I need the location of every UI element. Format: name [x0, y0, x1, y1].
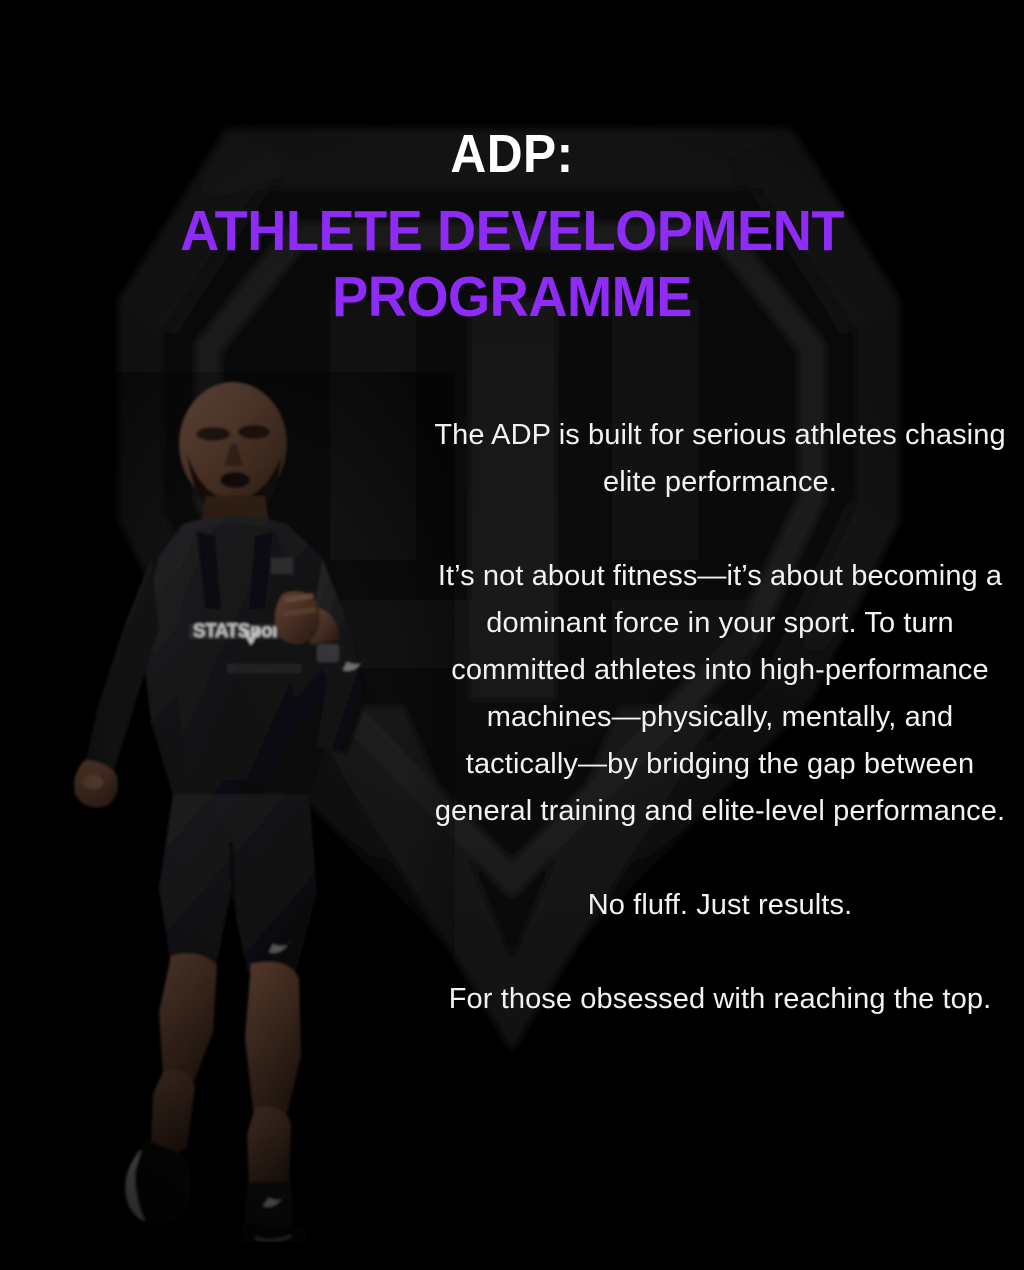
title-line-secondary: ATHLETE DEVELOPMENT PROGRAMME: [26, 199, 999, 330]
paragraph-tagline: No fluff. Just results.: [430, 882, 1010, 929]
paragraph-philosophy: It’s not about fitness—it’s about becomi…: [430, 553, 1010, 835]
adp-promo-poster: STATSports: [0, 0, 1024, 1270]
athlete-photo: STATSports: [55, 372, 455, 1242]
paragraph-closing: For those obsessed with reaching the top…: [430, 976, 1010, 1023]
paragraph-intro: The ADP is built for serious athletes ch…: [430, 412, 1010, 506]
title-line-primary: ADP:: [41, 126, 983, 183]
svg-text:STATSports: STATSports: [193, 621, 295, 642]
page-title: ADP: ATHLETE DEVELOPMENT PROGRAMME: [0, 126, 1024, 330]
body-copy-block: The ADP is built for serious athletes ch…: [430, 412, 1010, 1023]
